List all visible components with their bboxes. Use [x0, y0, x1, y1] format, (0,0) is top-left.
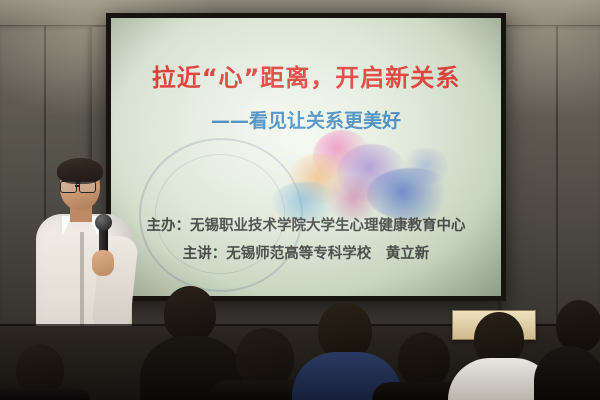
- audience-head: [556, 300, 600, 352]
- presenter-shirt-placket: [80, 232, 84, 332]
- audience-head: [236, 328, 294, 388]
- glasses-icon: [60, 181, 77, 193]
- presenter-hand: [92, 250, 114, 276]
- wall-panel-right: [498, 26, 600, 326]
- audience-shoulders: [0, 388, 90, 400]
- audience-head: [164, 286, 216, 342]
- microphone-icon: [95, 214, 112, 231]
- slide-organizer-line: 主办：无锡职业技术学院大学生心理健康教育中心: [111, 214, 501, 235]
- slide-subtitle: ——看见让关系更美好: [111, 106, 501, 133]
- audience-head: [398, 332, 450, 388]
- projection-screen: 拉近“心”距离，开启新关系 ——看见让关系更美好 主办：无锡职业技术学院大学生心…: [111, 18, 501, 296]
- wall-seam-right: [556, 26, 558, 326]
- glasses-right-lens-icon: [79, 181, 96, 193]
- glasses-bridge: [75, 185, 79, 187]
- lecture-hall-photo: 拉近“心”距离，开启新关系 ——看见让关系更美好 主办：无锡职业技术学院大学生心…: [0, 0, 600, 400]
- slide-speaker-line: 主讲：无锡师范高等专科学校 黄立新: [111, 242, 501, 263]
- slide-title: 拉近“心”距离，开启新关系: [111, 58, 501, 93]
